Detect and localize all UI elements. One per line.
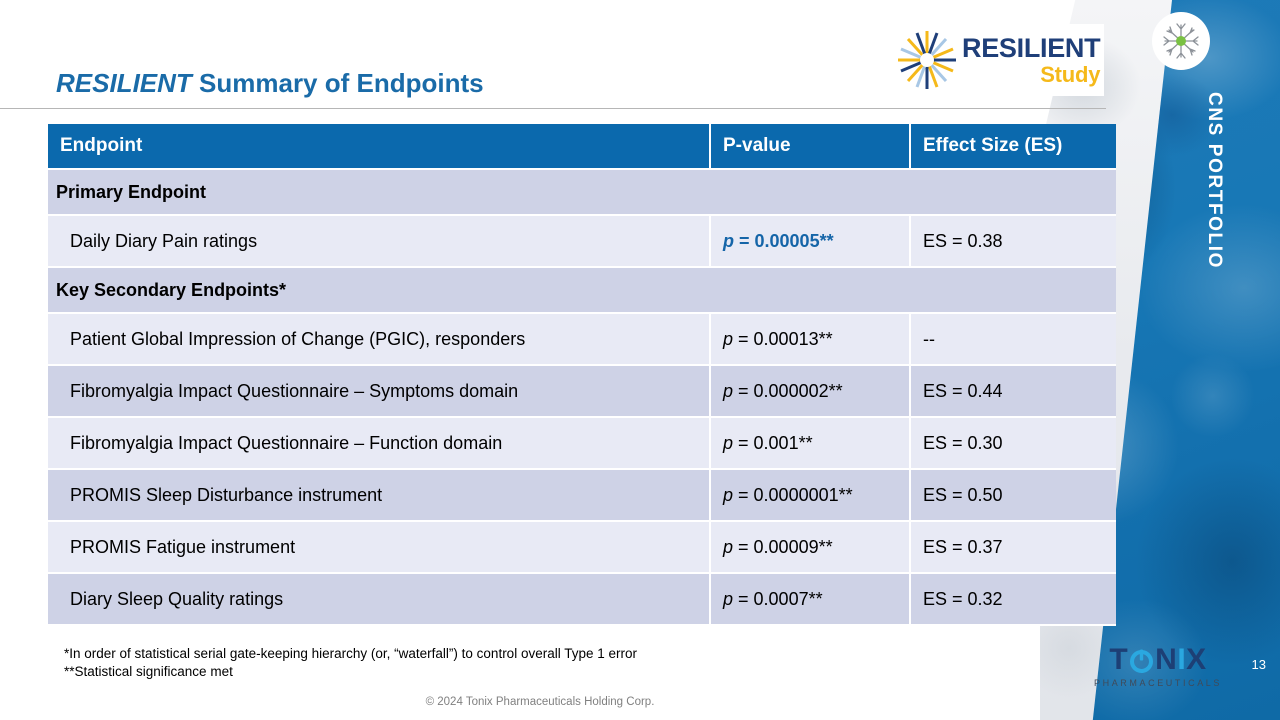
pvalue-symbol: p xyxy=(723,433,733,453)
page-number: 13 xyxy=(1252,657,1266,672)
cell-endpoint: PROMIS Sleep Disturbance instrument xyxy=(48,469,710,521)
table-row: PROMIS Fatigue instrumentp = 0.00009**ES… xyxy=(48,521,1116,573)
cell-effect-size: ES = 0.37 xyxy=(910,521,1116,573)
cell-endpoint: Daily Diary Pain ratings xyxy=(48,215,710,267)
cell-effect-size: ES = 0.32 xyxy=(910,573,1116,625)
cell-endpoint: Diary Sleep Quality ratings xyxy=(48,573,710,625)
footnotes: *In order of statistical serial gate-kee… xyxy=(64,645,637,681)
pvalue-symbol: p xyxy=(723,231,734,251)
copyright-text: © 2024 Tonix Pharmaceuticals Holding Cor… xyxy=(426,696,655,708)
cell-endpoint: Patient Global Impression of Change (PGI… xyxy=(48,313,710,365)
tonix-wordmark: T N I X xyxy=(1094,645,1222,675)
tonix-letter-n: N xyxy=(1155,645,1177,675)
column-header-effect-size: Effect Size (ES) xyxy=(910,124,1116,169)
tonix-subtitle: PHARMACEUTICALS xyxy=(1094,679,1222,688)
logo-study-text: Study xyxy=(962,64,1100,86)
table-row: Fibromyalgia Impact Questionnaire – Func… xyxy=(48,417,1116,469)
tonix-logo: T N I X PHARMACEUTICALS xyxy=(1094,645,1222,688)
pvalue-number: = 0.00013** xyxy=(733,329,833,349)
cell-effect-size: ES = 0.50 xyxy=(910,469,1116,521)
neuron-icon xyxy=(1152,12,1210,70)
cell-pvalue: p = 0.00005** xyxy=(710,215,910,267)
tonix-letter-t: T xyxy=(1109,645,1128,675)
table-row: Diary Sleep Quality ratingsp = 0.0007**E… xyxy=(48,573,1116,625)
table-row: Daily Diary Pain ratingsp = 0.00005**ES … xyxy=(48,215,1116,267)
page-title-rest: Summary of Endpoints xyxy=(192,68,484,98)
cell-pvalue: p = 0.00013** xyxy=(710,313,910,365)
pvalue-number: = 0.000002** xyxy=(733,381,843,401)
starburst-icon xyxy=(894,27,960,93)
title-divider xyxy=(0,108,1106,109)
table-body: Primary EndpointDaily Diary Pain ratings… xyxy=(48,169,1116,625)
cell-pvalue: p = 0.0000001** xyxy=(710,469,910,521)
copyright-notice: © 2024 Tonix Pharmaceuticals Holding Cor… xyxy=(0,696,1280,708)
table-header-row: Endpoint P-value Effect Size (ES) xyxy=(48,124,1116,169)
endpoints-table: Endpoint P-value Effect Size (ES) Primar… xyxy=(48,124,1116,626)
table-row: Fibromyalgia Impact Questionnaire – Symp… xyxy=(48,365,1116,417)
logo-resilient-text: RESILIENT xyxy=(962,35,1100,62)
pvalue-symbol: p xyxy=(723,329,733,349)
pvalue-number: = 0.0000001** xyxy=(733,485,853,505)
page-title: RESILIENT Summary of Endpoints xyxy=(56,68,484,99)
pvalue-symbol: p xyxy=(723,381,733,401)
cell-pvalue: p = 0.00009** xyxy=(710,521,910,573)
table-row: Patient Global Impression of Change (PGI… xyxy=(48,313,1116,365)
column-header-pvalue: P-value xyxy=(710,124,910,169)
pvalue-number: = 0.001** xyxy=(733,433,813,453)
cell-endpoint: Fibromyalgia Impact Questionnaire – Symp… xyxy=(48,365,710,417)
tonix-letter-i: I xyxy=(1177,645,1186,675)
cell-effect-size: ES = 0.30 xyxy=(910,417,1116,469)
cell-effect-size: ES = 0.44 xyxy=(910,365,1116,417)
section-title: Primary Endpoint xyxy=(48,169,1116,215)
cell-pvalue: p = 0.000002** xyxy=(710,365,910,417)
pvalue-symbol: p xyxy=(723,485,733,505)
table-section-row: Primary Endpoint xyxy=(48,169,1116,215)
footnote-line-1: *In order of statistical serial gate-kee… xyxy=(64,645,637,663)
pvalue-symbol: p xyxy=(723,537,733,557)
cell-effect-size: -- xyxy=(910,313,1116,365)
table-row: PROMIS Sleep Disturbance instrumentp = 0… xyxy=(48,469,1116,521)
footnote-line-2: **Statistical significance met xyxy=(64,663,637,681)
slide-canvas: CNS PORTFOLIO 13 RESILIENT Summary of En… xyxy=(0,0,1280,720)
tonix-power-o-icon xyxy=(1129,648,1154,673)
table-section-row: Key Secondary Endpoints* xyxy=(48,267,1116,313)
pvalue-number: = 0.0007** xyxy=(733,589,823,609)
pvalue-number: = 0.00005** xyxy=(734,231,834,251)
column-header-endpoint: Endpoint xyxy=(48,124,710,169)
tonix-letter-x: X xyxy=(1186,645,1207,675)
cell-effect-size: ES = 0.38 xyxy=(910,215,1116,267)
cell-pvalue: p = 0.0007** xyxy=(710,573,910,625)
resilient-study-logo: RESILIENT Study xyxy=(890,24,1104,96)
cell-pvalue: p = 0.001** xyxy=(710,417,910,469)
cell-endpoint: Fibromyalgia Impact Questionnaire – Func… xyxy=(48,417,710,469)
section-title: Key Secondary Endpoints* xyxy=(48,267,1116,313)
pvalue-symbol: p xyxy=(723,589,733,609)
cns-portfolio-label: CNS PORTFOLIO xyxy=(1203,92,1225,269)
pvalue-number: = 0.00009** xyxy=(733,537,833,557)
cell-endpoint: PROMIS Fatigue instrument xyxy=(48,521,710,573)
page-title-emphasis: RESILIENT xyxy=(56,68,192,98)
